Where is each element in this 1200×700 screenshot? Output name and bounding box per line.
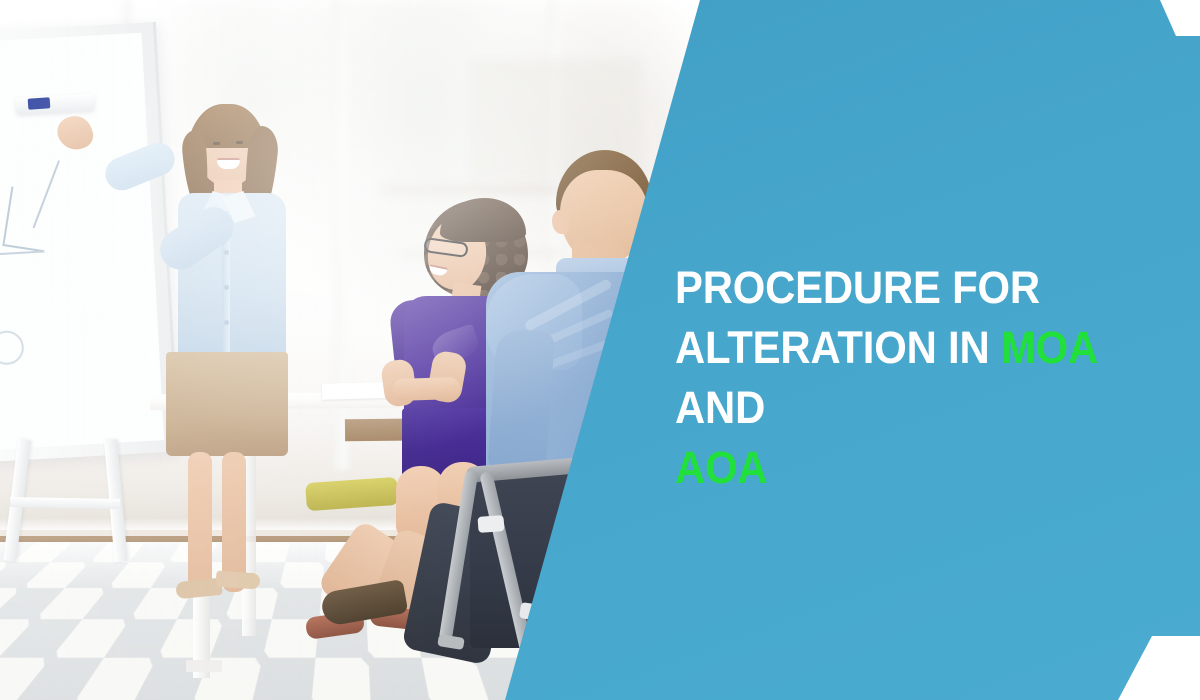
office-chair-joint (477, 515, 504, 533)
presenter-shirt-button (224, 285, 229, 290)
presenter-eye (236, 141, 243, 144)
seated-man-ear (552, 210, 569, 234)
presenter-eye (213, 142, 220, 145)
table-foot (186, 660, 222, 672)
presenter-shirt-button (224, 250, 229, 255)
page-title: PROCEDURE FOR ALTERATION IN MOA AND AOA (675, 258, 1140, 498)
whiteboard-marker (28, 97, 51, 110)
headline-line-1: PROCEDURE FOR (675, 258, 1140, 318)
headline-text: AND (675, 382, 765, 433)
presenter-skirt (166, 352, 288, 456)
presenter-shoe (215, 570, 260, 589)
article-hero-banner: PROCEDURE FOR ALTERATION IN MOA AND AOA (0, 0, 1200, 700)
outside-building-blur (380, 185, 580, 194)
presenter-smile (217, 158, 240, 169)
headline-text: ALTERATION IN (675, 322, 990, 373)
seated-man-arm (487, 328, 555, 482)
headline-line-2: ALTERATION IN MOA AND (675, 318, 1140, 438)
headline-highlight-aoa: AOA (675, 442, 767, 493)
headline-line-3: AOA (675, 438, 1140, 498)
presenter-leg (188, 452, 212, 592)
presenter-shirt-button (224, 320, 229, 325)
whiteboard-scribble (0, 328, 26, 367)
easel-crossbar (10, 497, 120, 509)
whiteboard-scribble (0, 250, 45, 255)
seated-woman-hands (392, 377, 461, 401)
headline-text: PROCEDURE FOR (675, 262, 1040, 313)
headline-highlight-moa: MOA (1001, 322, 1097, 373)
